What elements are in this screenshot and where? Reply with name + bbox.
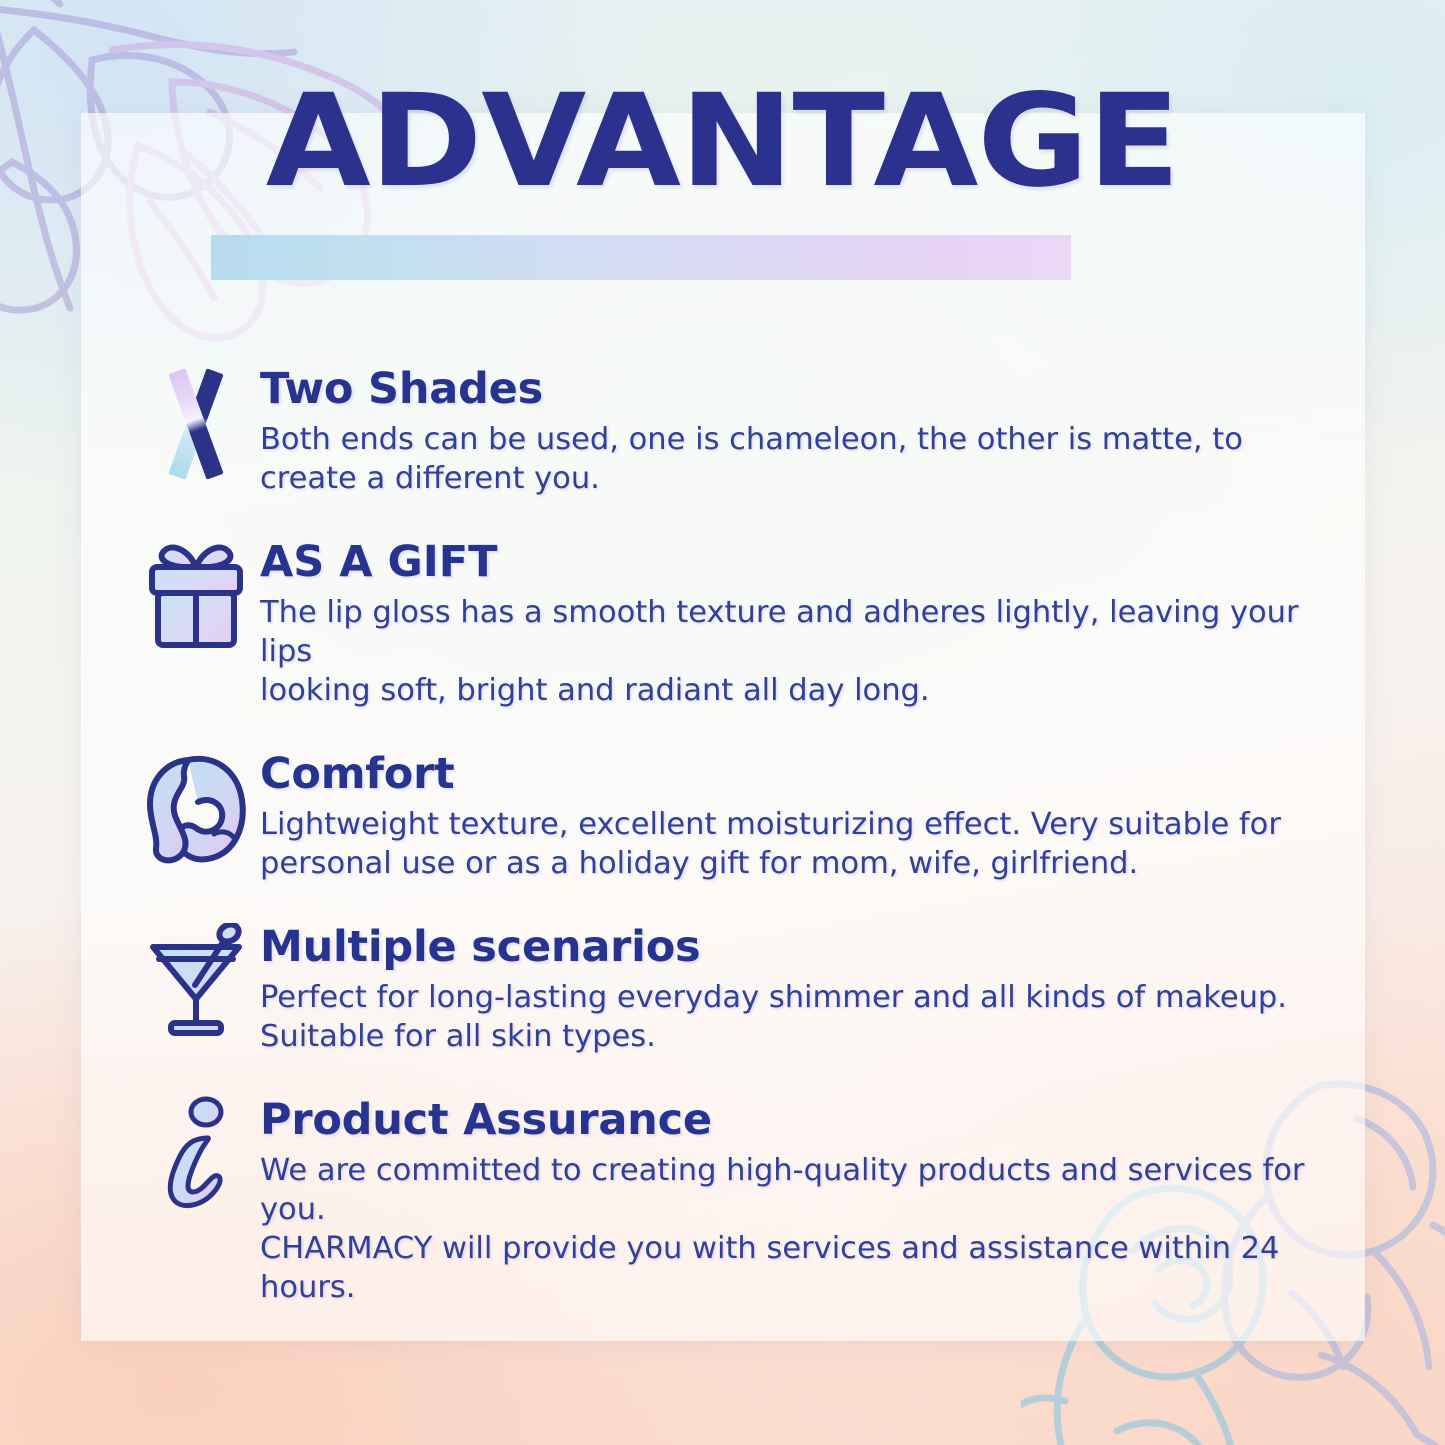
page-title-block: ADVANTAGE	[0, 74, 1445, 224]
advantage-poster: ADVANTAGE	[0, 0, 1445, 1445]
feature-item: Multiple scenarios Perfect for long-last…	[132, 920, 1347, 1056]
crossed-lipstick-sticks-icon	[132, 362, 260, 486]
feature-body: The lip gloss has a smooth texture and a…	[260, 593, 1347, 710]
title-highlight-bar	[211, 235, 1071, 280]
page-title: ADVANTAGE	[0, 74, 1445, 210]
feature-title: Comfort	[260, 749, 1347, 799]
feature-text: Two Shades Both ends can be used, one is…	[260, 362, 1347, 498]
feature-item: AS A GIFT The lip gloss has a smooth tex…	[132, 535, 1347, 710]
feature-list: Two Shades Both ends can be used, one is…	[132, 362, 1347, 1307]
feature-text: AS A GIFT The lip gloss has a smooth tex…	[260, 535, 1347, 710]
feature-title: Multiple scenarios	[260, 922, 1347, 972]
feature-text: Multiple scenarios Perfect for long-last…	[260, 920, 1347, 1056]
feature-item: Two Shades Both ends can be used, one is…	[132, 362, 1347, 498]
woman-profile-icon	[132, 747, 260, 871]
feature-item: Comfort Lightweight texture, excellent m…	[132, 747, 1347, 883]
feature-title: AS A GIFT	[260, 537, 1347, 587]
feature-text: Comfort Lightweight texture, excellent m…	[260, 747, 1347, 883]
feature-title: Two Shades	[260, 364, 1347, 414]
feature-body: We are committed to creating high-qualit…	[260, 1151, 1347, 1307]
gift-box-icon	[132, 535, 260, 659]
feature-body: Both ends can be used, one is chameleon,…	[260, 420, 1347, 498]
feature-body: Lightweight texture, excellent moisturiz…	[260, 805, 1347, 883]
cocktail-glass-icon	[132, 920, 260, 1044]
feature-body: Perfect for long-lasting everyday shimme…	[260, 978, 1347, 1056]
feature-text: Product Assurance We are committed to cr…	[260, 1093, 1347, 1307]
feature-title: Product Assurance	[260, 1095, 1347, 1145]
feature-item: Product Assurance We are committed to cr…	[132, 1093, 1347, 1307]
info-i-icon	[132, 1093, 260, 1217]
